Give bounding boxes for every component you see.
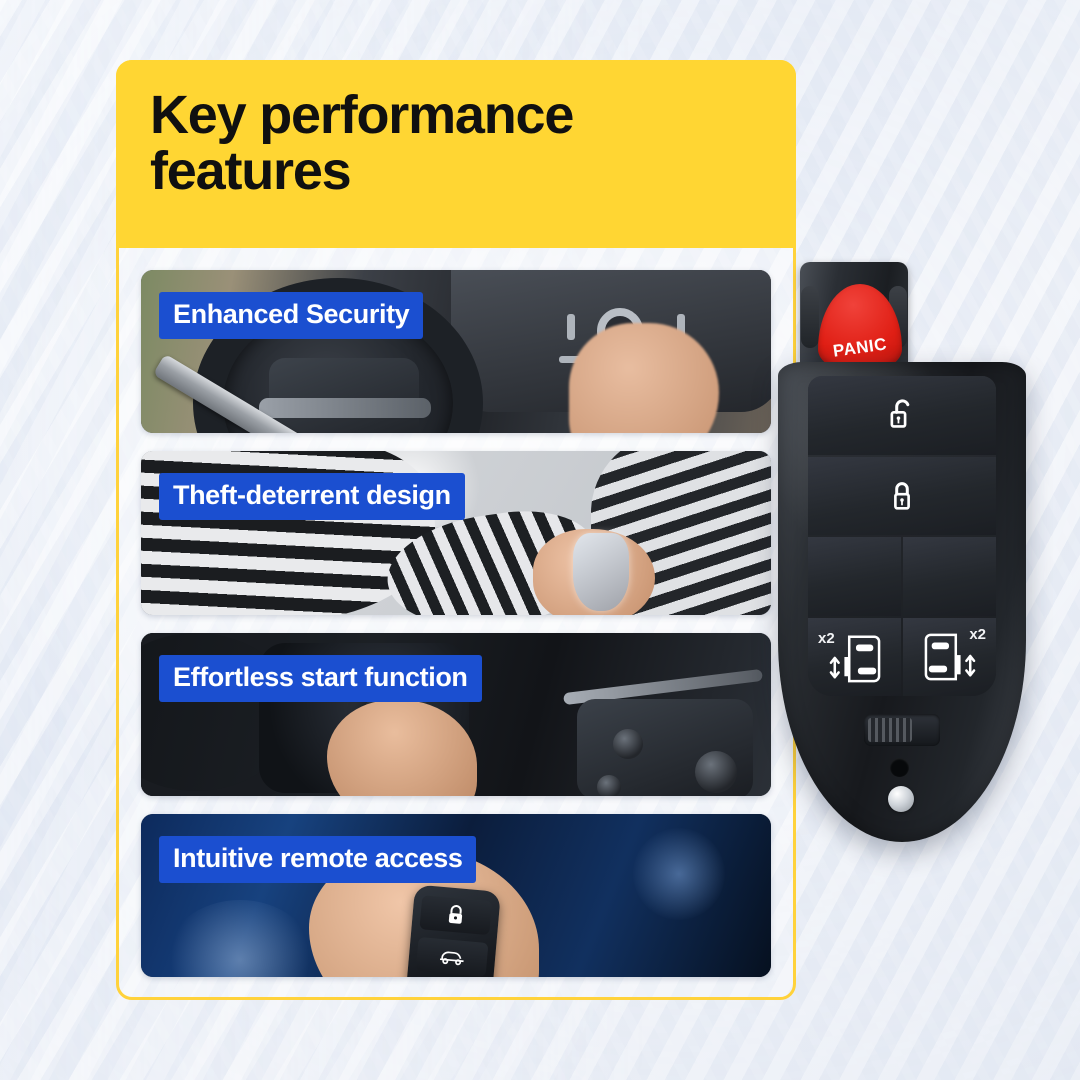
blank-button-right[interactable] xyxy=(903,537,996,616)
panic-button-label: PANIC xyxy=(817,332,903,363)
feature-panel-enhanced-security[interactable]: Enhanced Security xyxy=(141,270,771,433)
key-fob-product-image: PANIC x2 xyxy=(778,262,1026,842)
lock-button[interactable] xyxy=(808,457,996,536)
blade-notch-left xyxy=(801,286,819,348)
smart-key-fob xyxy=(403,884,501,977)
console-dial xyxy=(695,751,737,793)
fob-trunk-button xyxy=(416,937,489,977)
page-title: Key performance features xyxy=(150,88,762,199)
car-keys xyxy=(573,533,629,611)
dashboard-button xyxy=(567,314,575,340)
feature-badge-1: Theft-deterrent design xyxy=(159,473,465,520)
feature-badge-2: Effortless start function xyxy=(159,655,482,702)
steering-wheel-spoke xyxy=(259,398,431,418)
bokeh-light xyxy=(165,900,315,977)
closed-padlock-icon xyxy=(887,478,917,514)
slider-ribs xyxy=(868,718,912,742)
open-padlock-icon xyxy=(887,397,917,433)
keychain-ring xyxy=(888,786,914,812)
console-dial xyxy=(597,775,621,796)
steering-wheel-hub xyxy=(269,358,419,433)
feature-panel-list: Enhanced Security Theft-deterrent design xyxy=(119,248,793,997)
car-icon xyxy=(436,946,467,967)
sliding-door-right-x2-label: x2 xyxy=(969,626,986,643)
blank-button-left[interactable] xyxy=(808,537,901,616)
feature-panel-intuitive-remote-access[interactable]: Intuitive remote access xyxy=(141,814,771,977)
feature-panel-theft-deterrent-design[interactable]: Theft-deterrent design xyxy=(141,451,771,614)
card-header: Key performance features xyxy=(116,60,796,248)
fob-lock-button xyxy=(419,895,492,935)
sliding-door-right-button[interactable]: x2 xyxy=(903,618,996,697)
feature-panel-effortless-start-function[interactable]: Effortless start function xyxy=(141,633,771,796)
feature-badge-3: Intuitive remote access xyxy=(159,836,476,883)
closed-padlock-icon xyxy=(444,903,468,927)
key-release-slider[interactable] xyxy=(864,714,940,746)
sliding-door-left-button[interactable]: x2 xyxy=(808,618,901,697)
feature-badge-0: Enhanced Security xyxy=(159,292,423,339)
unlock-button[interactable] xyxy=(808,376,996,455)
console-dial xyxy=(613,729,643,759)
bokeh-light xyxy=(633,828,725,920)
sliding-door-left-x2-label: x2 xyxy=(818,630,835,647)
key-fob-button-pad: x2 x2 xyxy=(808,376,996,696)
keychain-hole xyxy=(890,758,909,777)
feature-card: Key performance features Enhanced Securi… xyxy=(116,60,796,1000)
